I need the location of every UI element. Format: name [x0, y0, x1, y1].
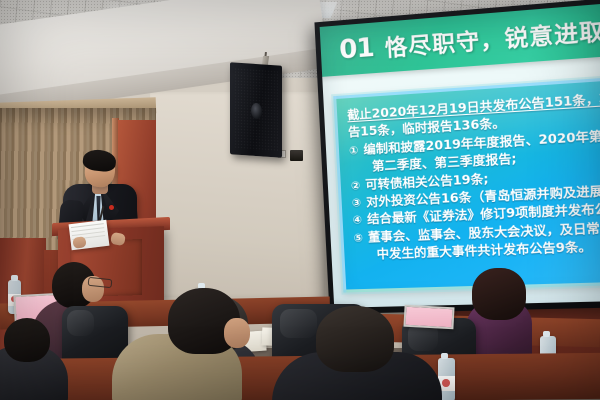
slide-title: 恪尽职守，锐意进取 [384, 13, 600, 63]
wall-outlet[interactable] [290, 150, 303, 161]
list-marker: ② [350, 177, 360, 195]
attendee-ear [224, 318, 250, 348]
slide-section-number: 01 [339, 33, 375, 66]
list-marker: ⑤ [353, 229, 363, 247]
presenter-lapel-pin [109, 205, 114, 210]
attendee-head [472, 268, 526, 320]
projection-screen: 01 恪尽职守，锐意进取 截止2020年12月19日共发布公告151条，其中定期… [314, 0, 600, 314]
list-marker: ③ [351, 194, 361, 212]
slide-surface: 01 恪尽职守，锐意进取 截止2020年12月19日共发布公告151条，其中定期… [320, 3, 600, 307]
name-card [403, 305, 454, 330]
attendee-head [4, 318, 50, 362]
attendee-head [316, 306, 394, 372]
slide-content-box: 截止2020年12月19日共发布公告151条，其中定期报 告15条，临时报告13… [333, 77, 600, 292]
list-marker: ④ [352, 212, 362, 230]
wall-speaker-icon [230, 62, 282, 158]
conference-room-photo: 01 恪尽职守，锐意进取 截止2020年12月19日共发布公告151条，其中定期… [0, 0, 600, 400]
speaker-driver [251, 102, 262, 119]
list-marker: ① [349, 142, 359, 160]
